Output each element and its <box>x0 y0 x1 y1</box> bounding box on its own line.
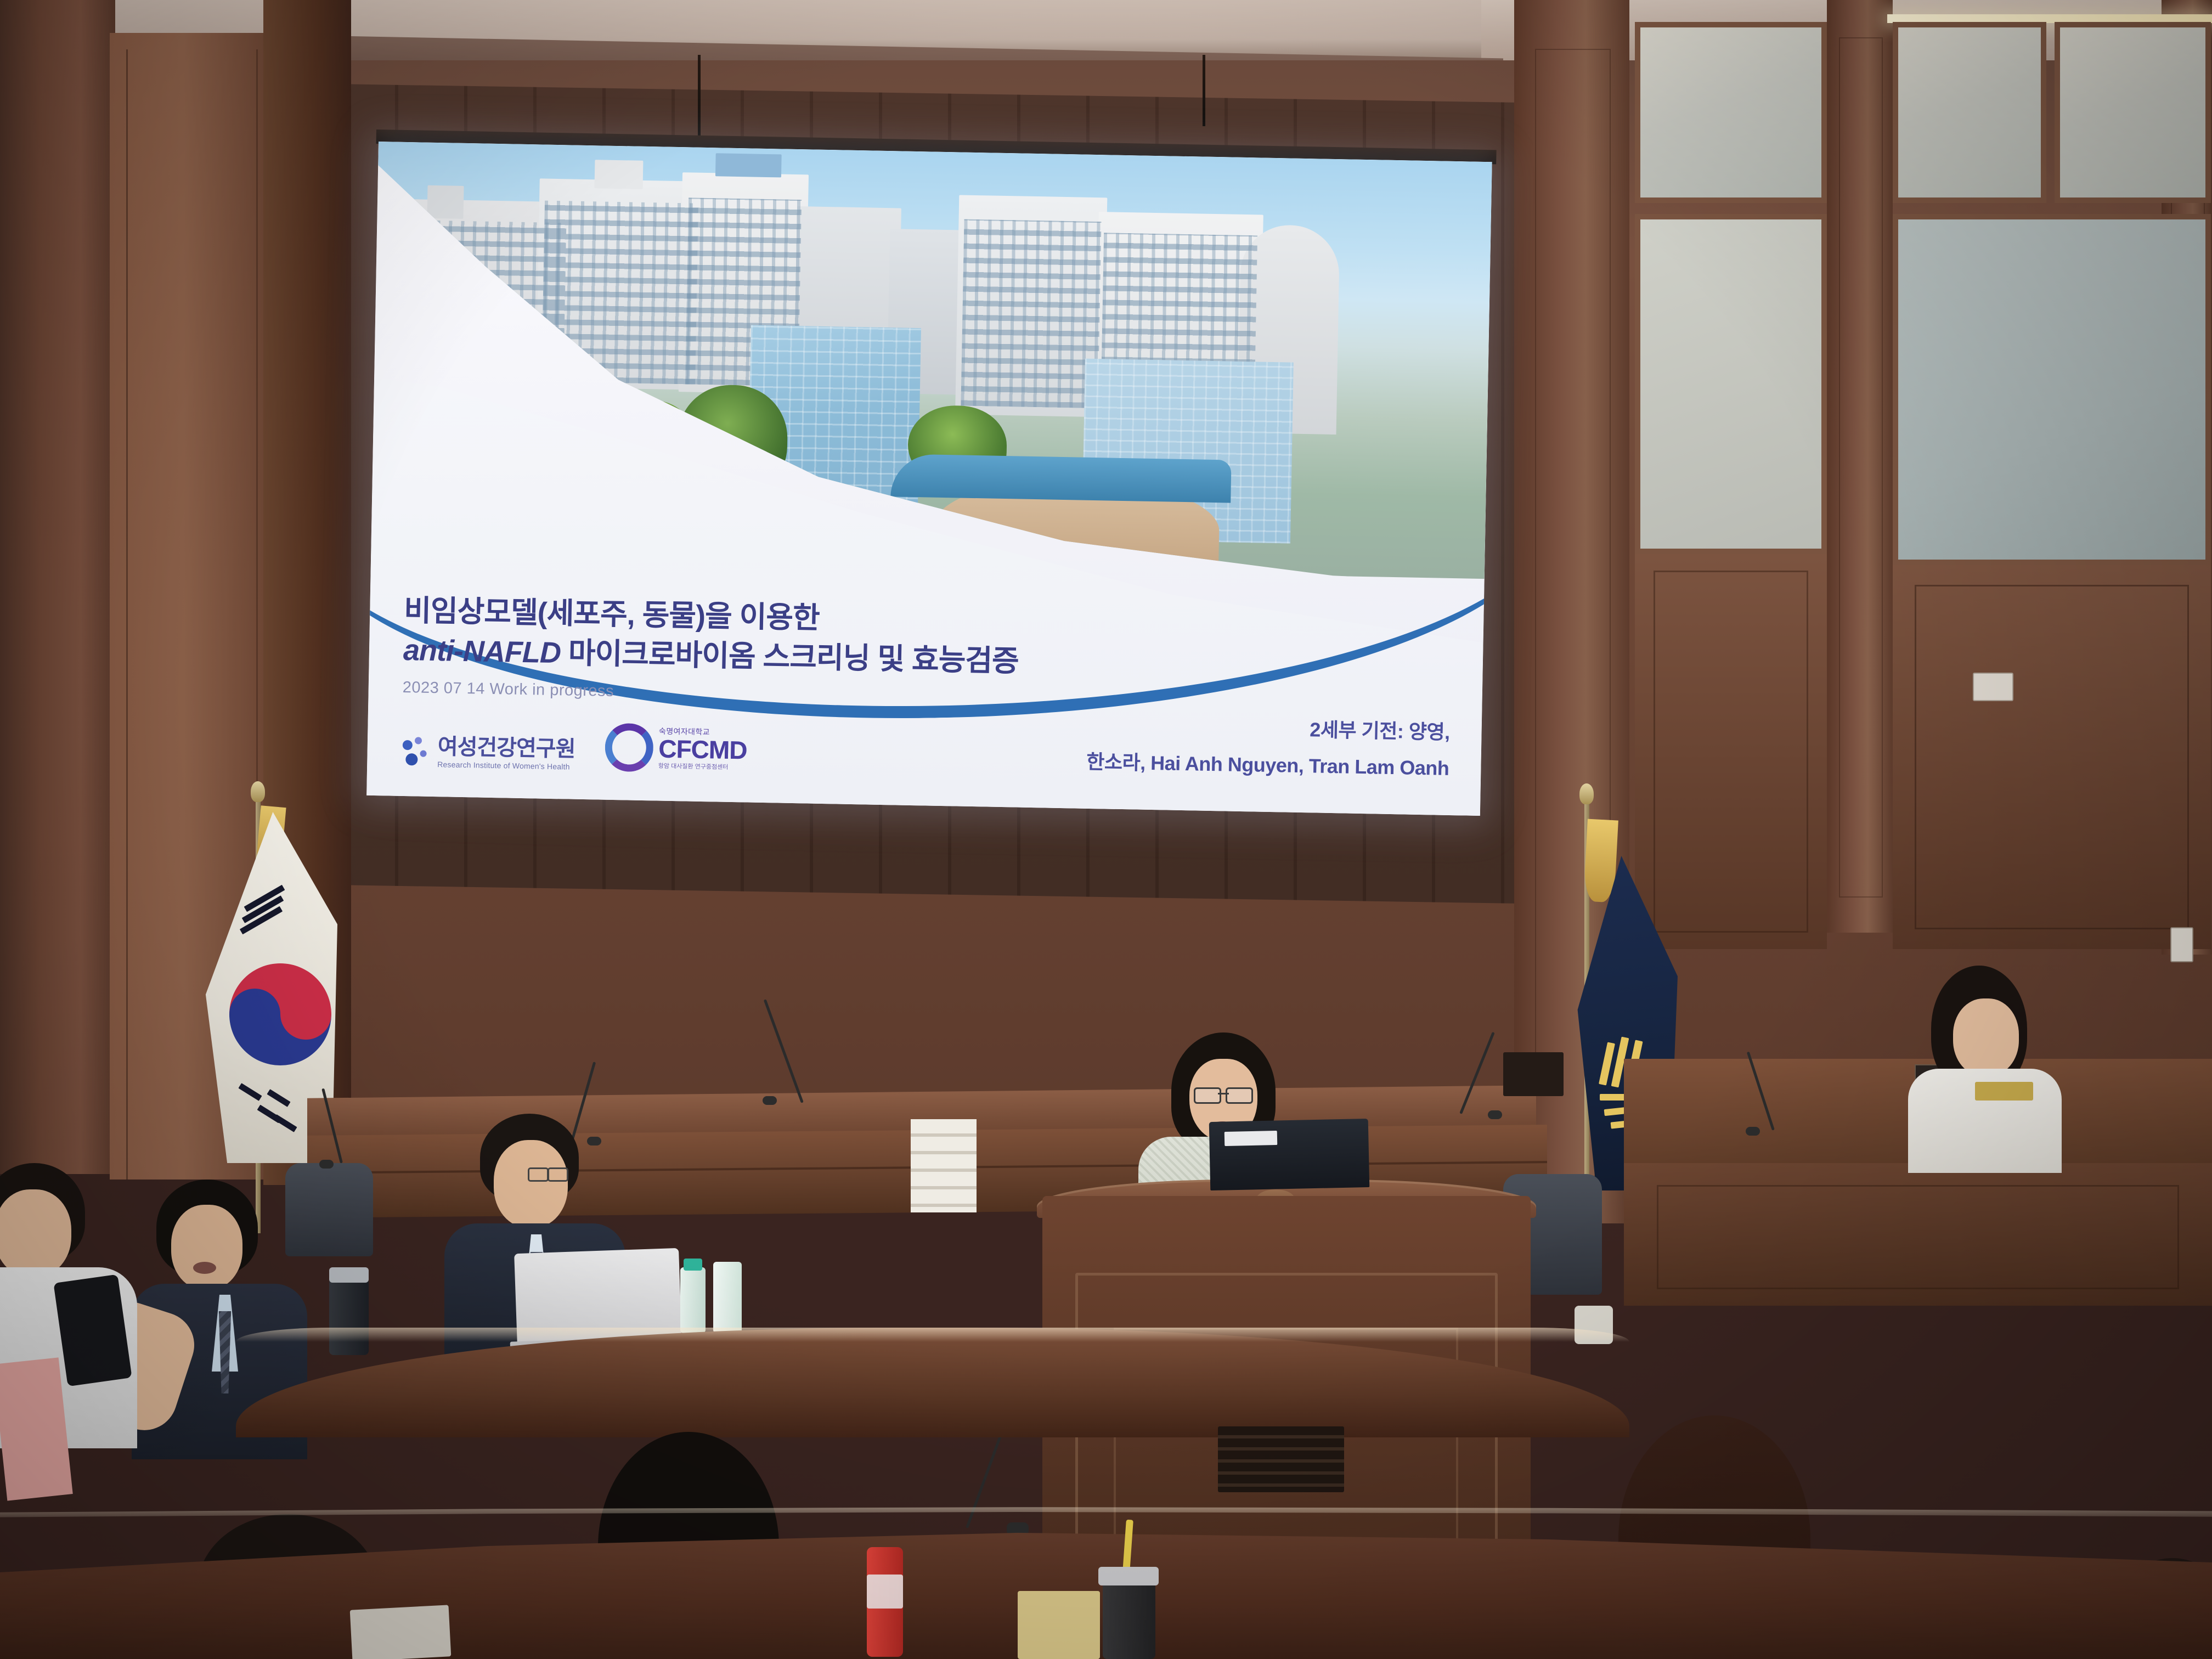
logo-research-institute: 여성건강연구원 Research Institute of Women's He… <box>401 735 575 771</box>
attendee-front-face <box>0 1189 71 1277</box>
window-upper-mid <box>1893 22 2046 203</box>
bench-row-right-lower <box>1624 1163 2212 1306</box>
thermos-cap <box>329 1267 369 1283</box>
window-upper-right <box>2055 22 2211 203</box>
iced-drink-cup <box>1103 1580 1155 1659</box>
attendee-right-name-badge <box>1975 1082 2033 1101</box>
wall-vent-upper <box>911 1119 977 1212</box>
attendee-suit-face <box>494 1140 568 1228</box>
attendee-suit-glasses-icon <box>528 1167 568 1180</box>
slide-authors-line1: 2세부 기전: 양영, <box>1087 710 1450 745</box>
water-bottle-1-cap <box>684 1259 702 1271</box>
screen-suspension-cable-2 <box>1203 55 1205 126</box>
institute-name-korean: 여성건강연구원 <box>437 736 575 760</box>
flagpole-finial-left-icon <box>251 781 265 802</box>
photo-scene: 비임상모델(세포주, 동물)을 이용한 anti-NAFLD 마이크로바이옴 스… <box>0 0 2212 1659</box>
presenter-laptop[interactable] <box>1209 1119 1370 1190</box>
window-lower-right <box>1893 214 2211 565</box>
wall-speaker-panel <box>1503 1052 1564 1096</box>
screen-suspension-cable <box>698 55 701 143</box>
light-switch-plate[interactable] <box>1973 673 2013 701</box>
window-lower-left <box>1635 214 1827 554</box>
white-paper <box>350 1605 452 1659</box>
wall-vent-lower <box>1218 1426 1344 1492</box>
slide-title-rest: 마이크로바이옴 스크리닝 및 효능검증 <box>560 636 1019 678</box>
flagpole-finial-right-icon <box>1579 783 1594 804</box>
logo-cfcmd: 숙명여자대학교 CFCMD 항암 대사질환 연구중점센터 <box>605 723 748 774</box>
slide-title-italic: anti-NAFLD <box>403 634 561 669</box>
red-bottle-label <box>867 1575 903 1609</box>
wall-panel-right-2 <box>1635 554 1827 949</box>
water-bottle-1 <box>680 1267 706 1333</box>
laptop-sticker <box>1224 1131 1278 1146</box>
cfcmd-subtitle: 항암 대사질환 연구중점센터 <box>658 763 747 771</box>
institute-mark-icon <box>401 736 431 766</box>
attendee-right-face <box>1953 998 2019 1076</box>
yellow-paper <box>1018 1591 1100 1659</box>
cup-lid <box>1098 1567 1159 1585</box>
projection-screen: 비임상모델(세포주, 동물)을 이용한 anti-NAFLD 마이크로바이옴 스… <box>366 142 1492 816</box>
chair-left[interactable] <box>285 1163 373 1256</box>
window-upper-left <box>1635 22 1827 203</box>
light-switch-small[interactable] <box>2170 927 2193 962</box>
slide-logo-row: 여성건강연구원 Research Institute of Women's He… <box>401 719 747 774</box>
taeguk-symbol-icon <box>229 963 331 1065</box>
wall-pillar-right <box>1827 0 1893 933</box>
cfcmd-acronym: CFCMD <box>658 736 747 763</box>
cfcmd-ring-icon <box>605 723 654 772</box>
presentation-slide: 비임상모델(세포주, 동물)을 이용한 anti-NAFLD 마이크로바이옴 스… <box>366 142 1492 816</box>
presenter-glasses-icon <box>1194 1087 1253 1102</box>
wall-column-left-outer <box>0 0 115 1174</box>
attendee-phone-face <box>171 1205 242 1290</box>
water-bottle-2 <box>713 1262 742 1333</box>
wall-panel-right <box>1893 565 2211 949</box>
attendee-phone-mouth <box>193 1262 216 1274</box>
curved-desk-mid-highlight <box>236 1328 1629 1342</box>
thermos-bottle <box>329 1278 369 1355</box>
slide-author-block: 2세부 기전: 양영, 한소라, Hai Anh Nguyen, Tran La… <box>1086 710 1450 781</box>
slide-title-block: 비임상모델(세포주, 동물)을 이용한 anti-NAFLD 마이크로바이옴 스… <box>402 593 1446 716</box>
